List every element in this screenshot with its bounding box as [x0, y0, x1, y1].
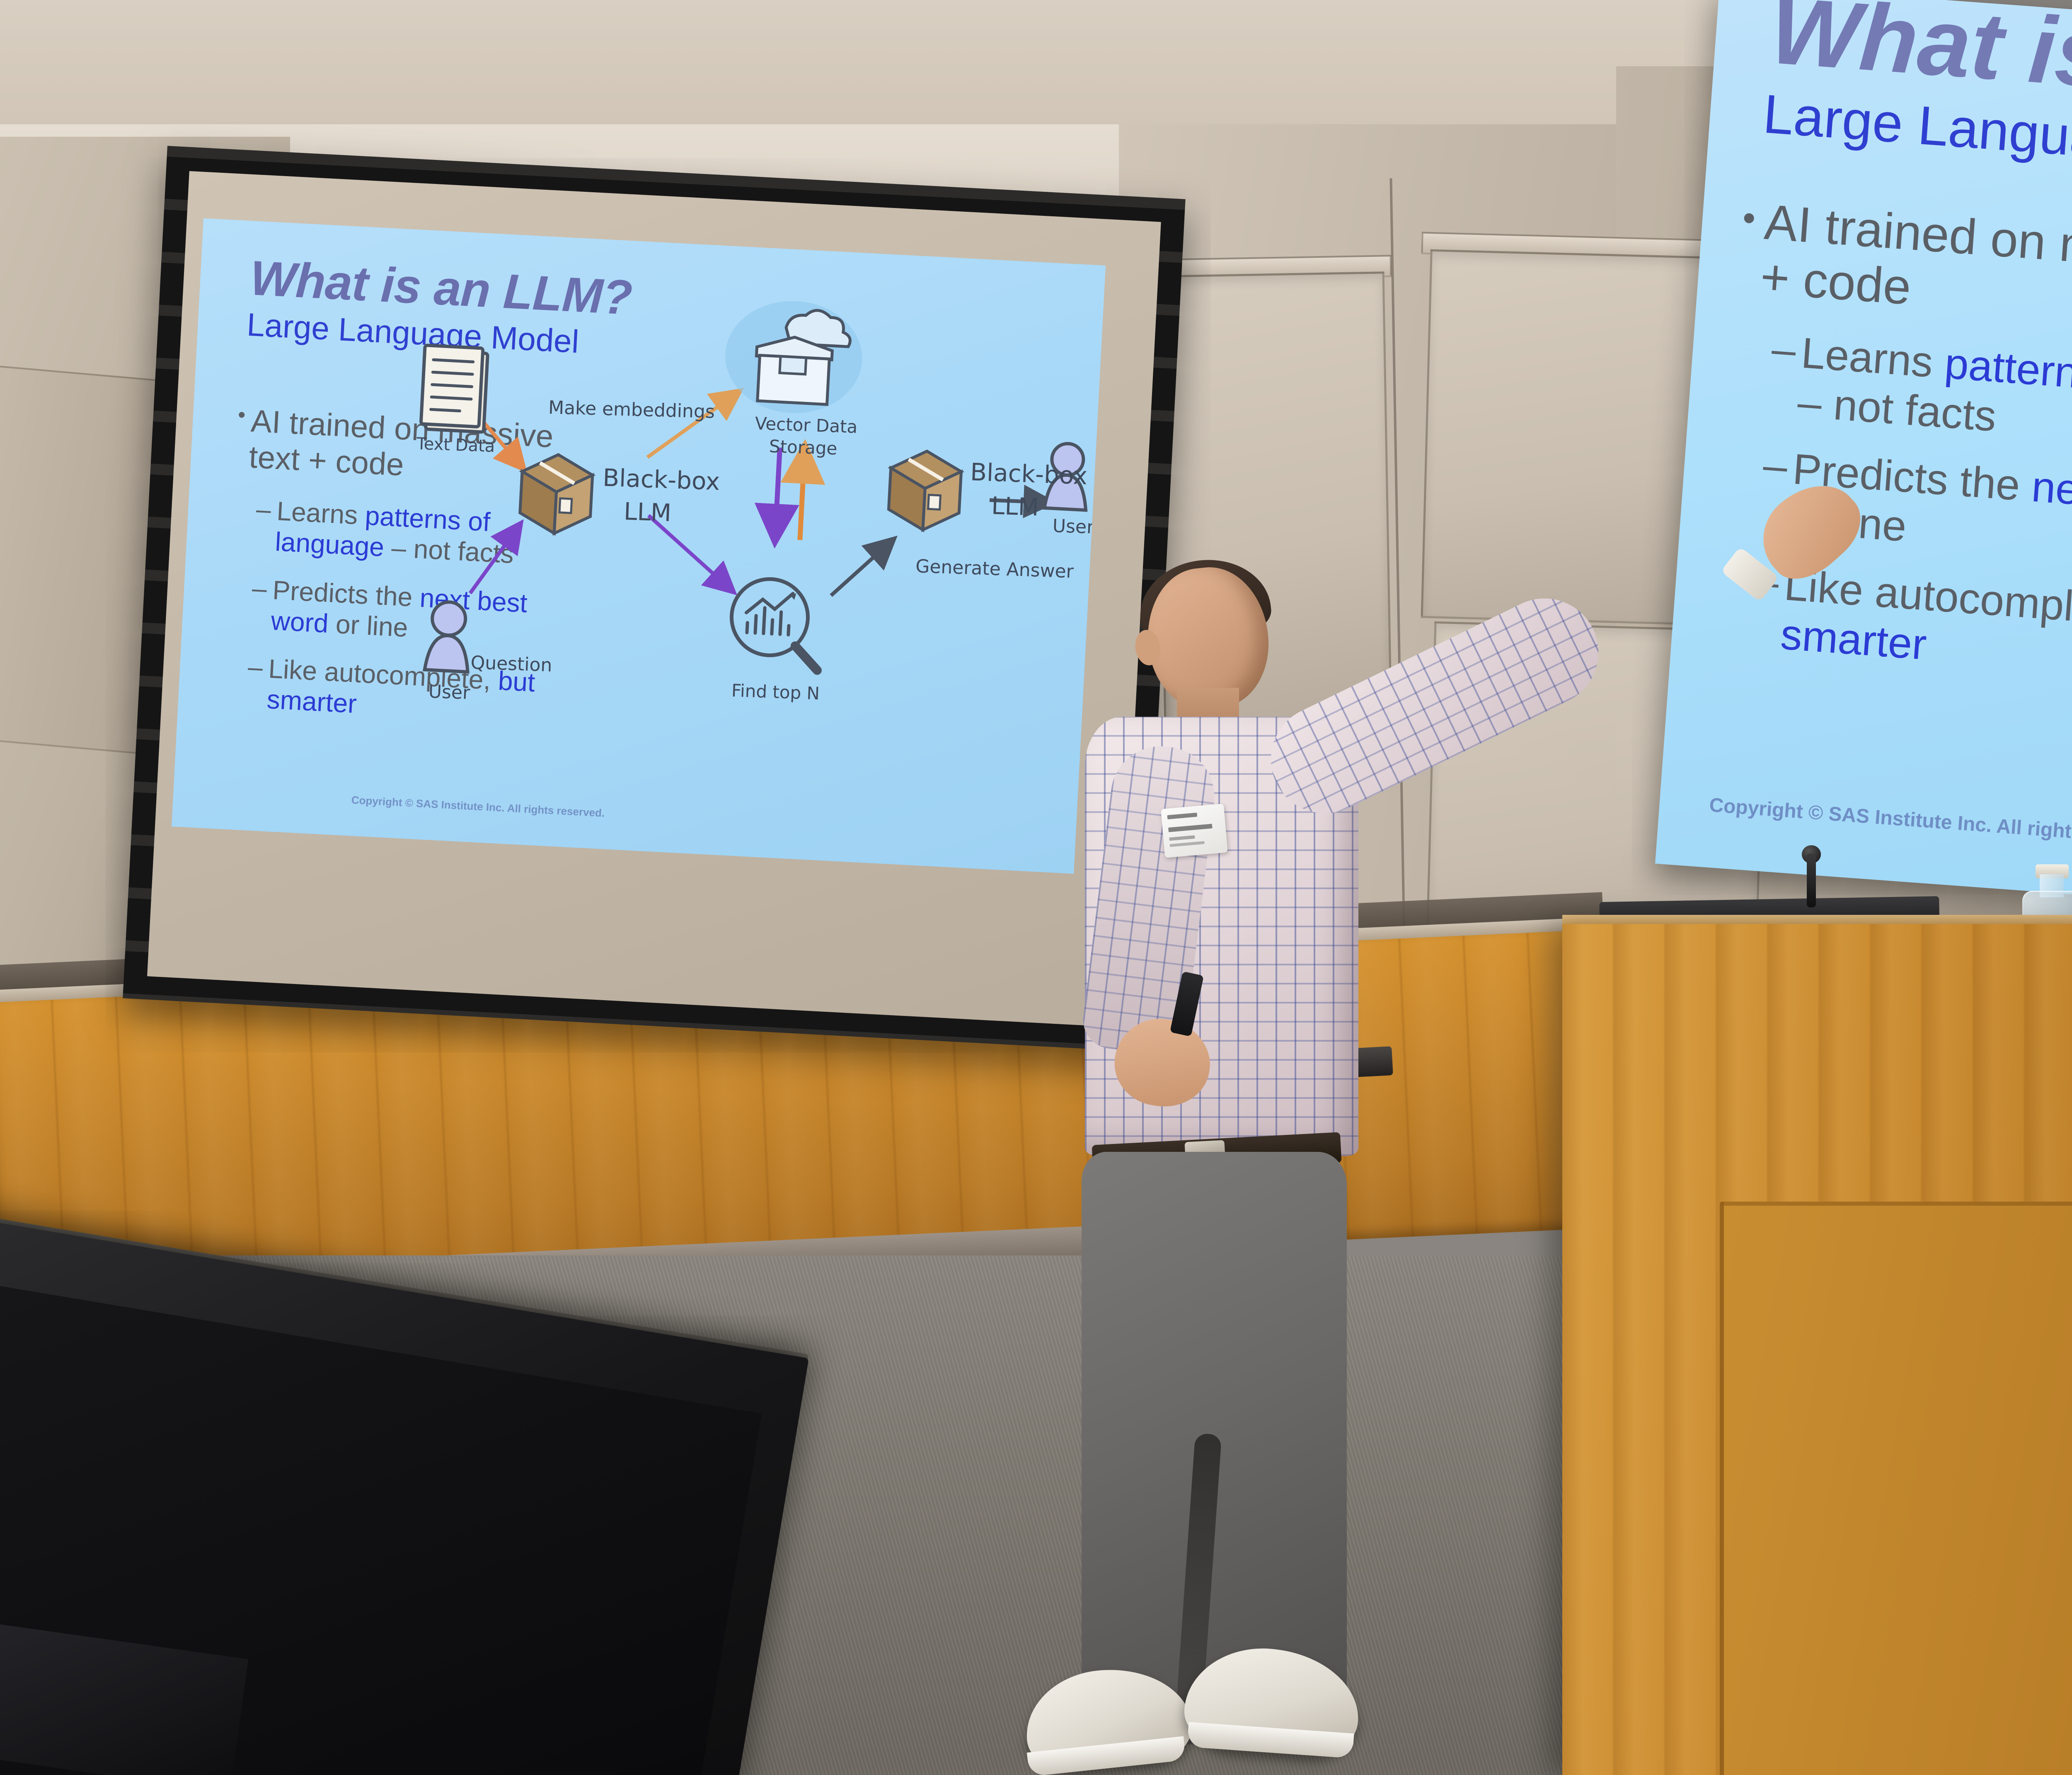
person-icon-user-in [425, 601, 472, 672]
conference-room-scene: What is an LLM? Large Language Model AI … [0, 0, 2072, 1775]
diagram-edge-label-question: Question [470, 652, 552, 676]
podium-front-panel [1720, 1202, 2072, 1775]
diagram-label-llm-generate-2: LLM [991, 491, 1039, 521]
edge-to-vector-store [647, 388, 738, 462]
documents-icon [421, 345, 488, 432]
right-slide-copyright: Copyright © SAS Institute Inc. All right… [1709, 794, 2072, 846]
microphone-stem [1807, 854, 1816, 907]
edge-to-generate [831, 537, 892, 598]
presenter [1011, 551, 1550, 1775]
diagram-label-storage: Storage [769, 436, 838, 459]
diagram-label-find-top-n: Find top N [731, 680, 820, 704]
edge-question [470, 523, 519, 596]
box-icon-embed [519, 453, 593, 535]
diagram-label-llm-embed-2: LLM [623, 497, 672, 527]
llm-pipeline-diagram: Text Data Make embeddings Black-box LLM … [172, 218, 1106, 874]
badge-logo-line [1167, 813, 1197, 819]
right-bullet-1: – Learns patterns of language – not fact… [1766, 326, 2072, 467]
slide-main: What is an LLM? Large Language Model AI … [172, 218, 1106, 874]
name-badge [1161, 804, 1228, 858]
diagram-label-text-data: Text Data [416, 434, 495, 456]
diagram-label-black-box-llm-embed: Black-box [602, 464, 720, 496]
diagram-label-black-box-llm-generate: Black-box [970, 458, 1088, 490]
right-bullet-3-text: Like autocomplete, but smarter [1779, 561, 2072, 699]
diagram-label-user-in: User [428, 681, 470, 704]
right-bullet-0-text: AI trained on massive text + code [1759, 195, 2072, 347]
right-slide-bullet-list: AI trained on massive text + code – Lear… [1712, 193, 2072, 699]
edge-to-search [645, 515, 736, 590]
cloud-box-icon [723, 297, 865, 416]
right-bullet-3: – Like autocomplete, but smarter [1749, 559, 2072, 699]
diagram-label-user-out: User [1052, 515, 1094, 538]
right-bullet-0: AI trained on massive text + code [1738, 193, 2072, 347]
box-icon-generate [888, 449, 962, 532]
right-bullet-dash-1: – [1770, 326, 1798, 373]
magnifier-chart-icon [729, 577, 822, 670]
diagram-label-vector-data: Vector Data [755, 413, 858, 437]
edge-store-up [800, 449, 805, 540]
right-bullet-1-text: Learns patterns of language – not facts [1796, 329, 2072, 467]
badge-role-line [1169, 835, 1195, 841]
projection-screen-right: What is an L Large Language Model AI tra… [1655, 0, 2072, 915]
right-bullet-dot-icon [1744, 213, 1755, 224]
diagram-edge-label-make-embeddings: Make embeddings [548, 397, 715, 422]
badge-name-line [1168, 824, 1213, 832]
edge-store-down [775, 447, 780, 539]
right-bullet-dash-2: – [1762, 443, 1789, 489]
badge-org-line [1170, 841, 1205, 847]
